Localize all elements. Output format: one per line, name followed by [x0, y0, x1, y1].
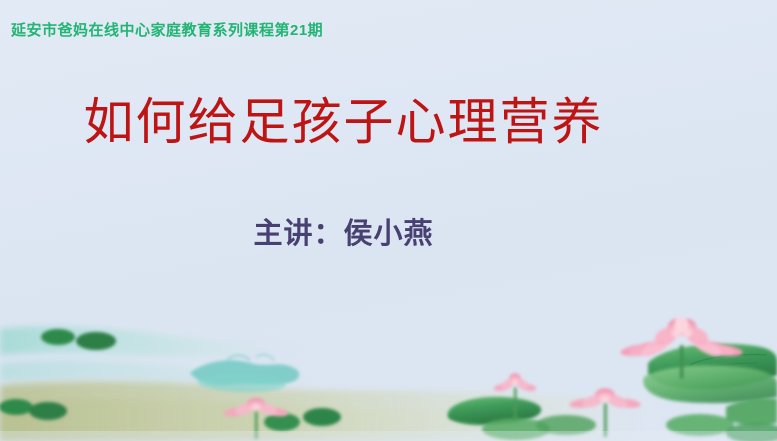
lotus-pond-artwork [0, 311, 777, 441]
water-haze [0, 431, 777, 441]
lily-pad-left-group [0, 329, 341, 431]
lotus-pond-decoration [0, 311, 777, 441]
slide-canvas: 延安市爸妈在线中心家庭教育系列课程第21期 如何给足孩子心理营养 主讲：侯小燕 [0, 0, 777, 441]
page-title: 如何给足孩子心理营养 [0, 93, 732, 151]
presenter-label: 主讲：侯小燕 [0, 216, 732, 252]
lotus-flower-small-mid [493, 373, 537, 421]
lotus-flower-large [620, 317, 743, 379]
left-watercolor-washes [0, 326, 680, 441]
lily-pad-mid-group [448, 397, 596, 440]
course-series-header: 延安市爸妈在线中心家庭教育系列课程第21期 [11, 19, 323, 40]
lotus-flower-small-right [569, 388, 641, 437]
lily-pad-right-large [643, 344, 777, 403]
teal-splash [190, 355, 299, 393]
lily-pad-far-right-group [666, 398, 777, 441]
lotus-flower-small-left [223, 398, 289, 439]
